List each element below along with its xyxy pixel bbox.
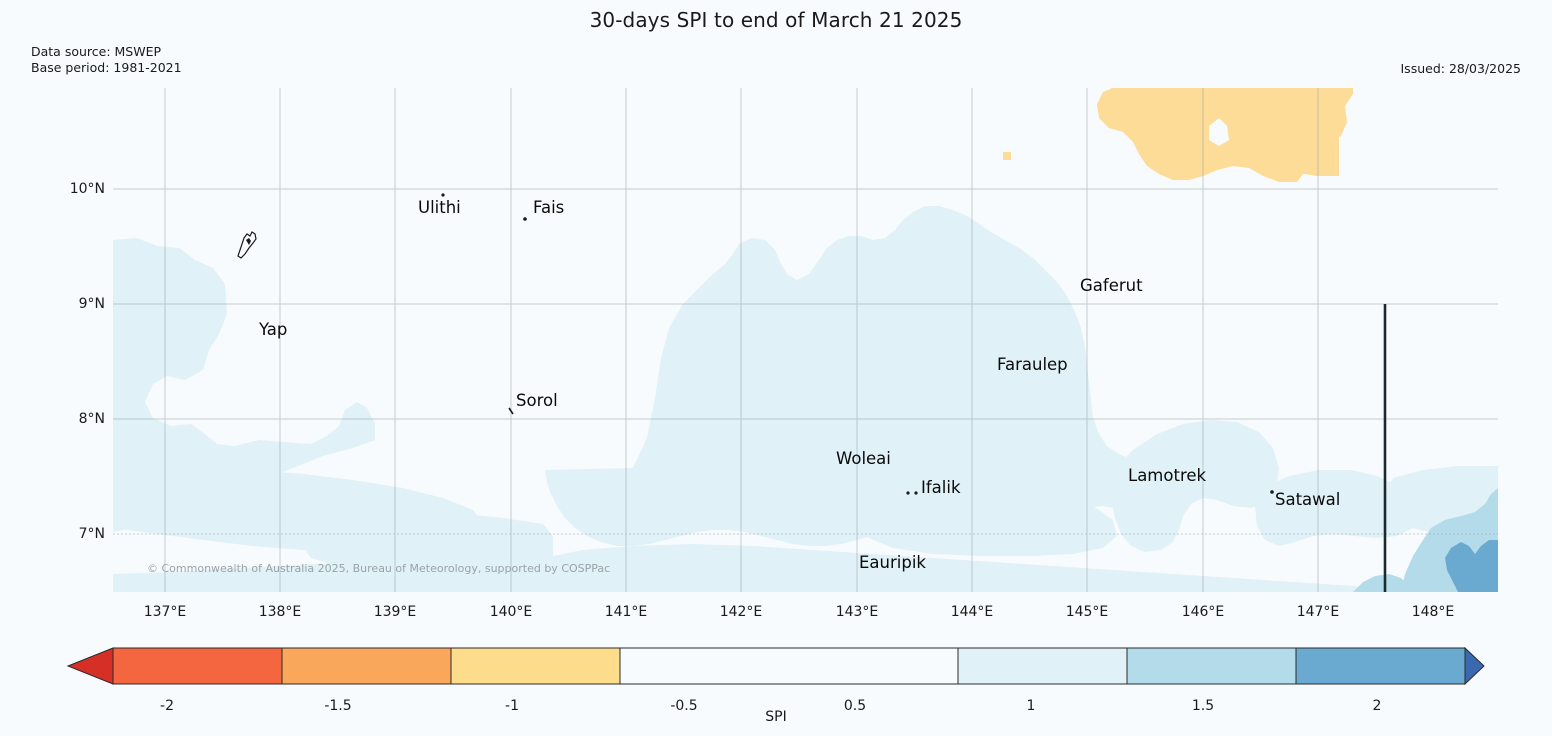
colorbar-axis-title: SPI	[0, 709, 1552, 725]
xtick-label-142E: 142°E	[720, 604, 763, 620]
place-label-satawal: Satawal	[1275, 490, 1340, 509]
ytick-label-8N: 8°N	[79, 411, 105, 427]
longitude-axis: 137°E 138°E 139°E 140°E 141°E 142°E 143°…	[0, 604, 1552, 628]
place-label-fais: Fais	[533, 198, 564, 217]
place-label-ifalik: Ifalik	[921, 478, 961, 497]
place-label-woleai: Woleai	[836, 449, 891, 468]
xtick-label-138E: 138°E	[259, 604, 302, 620]
xtick-label-143E: 143°E	[836, 604, 879, 620]
xtick-label-144E: 144°E	[951, 604, 994, 620]
place-label-yap: Yap	[259, 320, 287, 339]
colorbar-extend-high	[1465, 648, 1484, 684]
ytick-label-7N: 7°N	[79, 526, 105, 542]
xtick-label-139E: 139°E	[374, 604, 417, 620]
ytick-label-9N: 9°N	[79, 296, 105, 312]
xtick-label-137E: 137°E	[144, 604, 187, 620]
place-label-ulithi: Ulithi	[418, 198, 461, 217]
place-label-lamotrek: Lamotrek	[1128, 466, 1206, 485]
colorbar-extend-low	[68, 648, 113, 684]
spi-map-page: 30-days SPI to end of March 21 2025 Data…	[0, 0, 1552, 736]
page-title: 30-days SPI to end of March 21 2025	[0, 8, 1552, 32]
colorbar-bin-15-2	[1296, 648, 1465, 684]
issued-date-text: Issued: 28/03/2025	[1401, 61, 1522, 76]
colorbar-bin-n05-05	[620, 648, 958, 684]
place-label-gaferut: Gaferut	[1080, 276, 1143, 295]
xtick-label-141E: 141°E	[605, 604, 648, 620]
xtick-label-148E: 148°E	[1412, 604, 1455, 620]
colorbar-swatches	[68, 648, 1484, 684]
xtick-label-147E: 147°E	[1297, 604, 1340, 620]
yellow-speck	[1003, 152, 1011, 160]
colorbar-bin-1-15	[1127, 648, 1296, 684]
xtick-label-140E: 140°E	[490, 604, 533, 620]
place-label-sorol: Sorol	[516, 391, 558, 410]
colorbar-bin-n2-n15	[113, 648, 282, 684]
xtick-label-146E: 146°E	[1182, 604, 1225, 620]
place-label-faraulep: Faraulep	[997, 355, 1068, 374]
xtick-label-145E: 145°E	[1066, 604, 1109, 620]
place-label-eauripik: Eauripik	[859, 553, 926, 572]
colorbar-bin-05-1	[958, 648, 1127, 684]
ytick-label-10N: 10°N	[70, 181, 105, 197]
copyright-credit: © Commonwealth of Australia 2025, Bureau…	[147, 562, 610, 575]
colorbar-bin-n15-n1	[282, 648, 451, 684]
spi-map-canvas[interactable]: Yap Ulithi Fais Sorol Gaferut Faraulep W…	[113, 88, 1498, 592]
colorbar-bin-n1-n05	[451, 648, 620, 684]
